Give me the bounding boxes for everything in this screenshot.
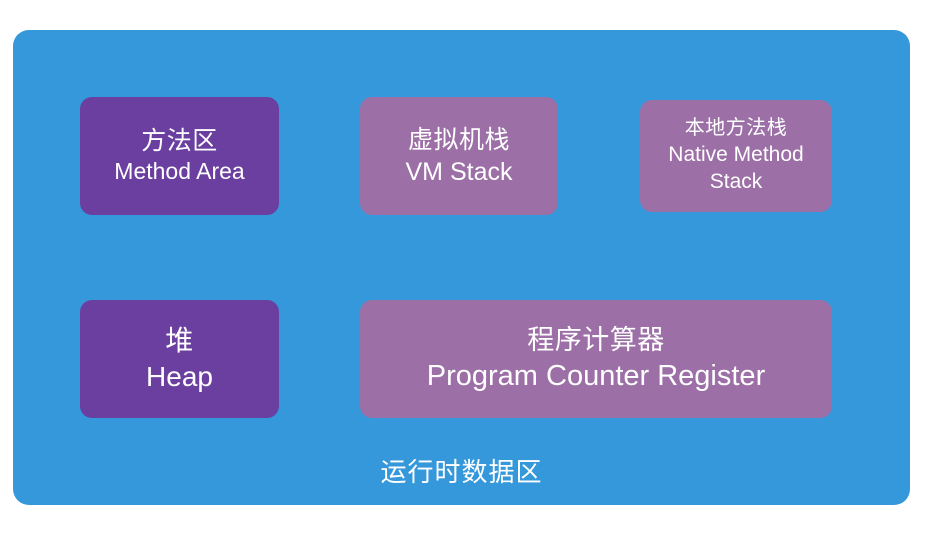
region-method-area: 方法区 Method Area	[80, 97, 279, 215]
region-native-method-stack-label-en: Native Method Stack	[640, 142, 832, 196]
region-native-method-stack-label-cn: 本地方法栈	[685, 116, 788, 142]
region-method-area-label-cn: 方法区	[141, 125, 218, 157]
region-vm-stack-label-cn: 虚拟机栈	[408, 124, 510, 156]
region-heap-label-cn: 堆	[165, 323, 194, 359]
region-heap-label-en: Heap	[146, 359, 213, 395]
region-pc-register-label-en: Program Counter Register	[427, 358, 765, 395]
region-pc-register-label-cn: 程序计算器	[527, 323, 665, 358]
runtime-data-area-caption: 运行时数据区	[13, 452, 910, 489]
diagram-canvas: 方法区 Method Area 虚拟机栈 VM Stack 本地方法栈 Nati…	[0, 0, 946, 548]
region-native-method-stack: 本地方法栈 Native Method Stack	[640, 100, 832, 212]
region-heap: 堆 Heap	[80, 300, 279, 418]
region-pc-register: 程序计算器 Program Counter Register	[360, 300, 832, 418]
runtime-data-area-container: 方法区 Method Area 虚拟机栈 VM Stack 本地方法栈 Nati…	[13, 30, 910, 505]
region-vm-stack: 虚拟机栈 VM Stack	[360, 97, 558, 215]
region-vm-stack-label-en: VM Stack	[406, 156, 513, 188]
region-method-area-label-en: Method Area	[114, 157, 244, 186]
